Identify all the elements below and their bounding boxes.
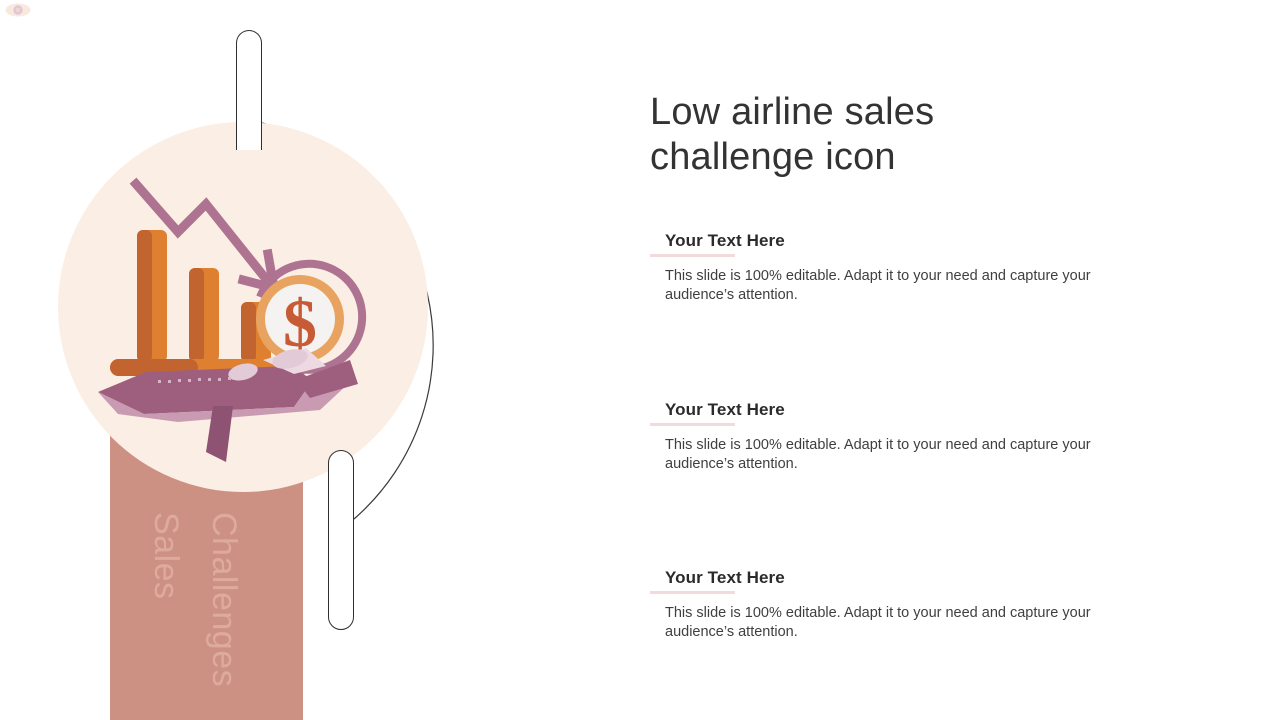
capsule-accent-top — [236, 30, 262, 150]
heading-underline — [650, 423, 735, 426]
page-title: Low airline sales challenge icon — [650, 90, 1070, 180]
block-body: This slide is 100% editable. Adapt it to… — [650, 436, 1100, 474]
block-heading: Your Text Here — [650, 400, 1120, 420]
text-block: Your Text Here This slide is 100% editab… — [650, 568, 1120, 642]
content-column: Low airline sales challenge icon Your Te… — [650, 0, 1280, 720]
block-body: This slide is 100% editable. Adapt it to… — [650, 604, 1100, 642]
declining-airline-sales-illustration: $ — [58, 122, 428, 492]
panel-label-sales: Sales — [146, 512, 185, 600]
panel-label-challenges: Challenges — [204, 512, 243, 687]
block-heading: Your Text Here — [650, 231, 1120, 251]
text-block: Your Text Here This slide is 100% editab… — [650, 231, 1120, 305]
text-block: Your Text Here This slide is 100% editab… — [650, 400, 1120, 474]
block-heading: Your Text Here — [650, 568, 1120, 588]
block-body: This slide is 100% editable. Adapt it to… — [650, 267, 1100, 305]
capsule-accent-bottom — [328, 450, 354, 630]
visual-composition: Sales Challenges — [0, 0, 640, 720]
heading-underline — [650, 591, 735, 594]
heading-underline — [650, 254, 735, 257]
